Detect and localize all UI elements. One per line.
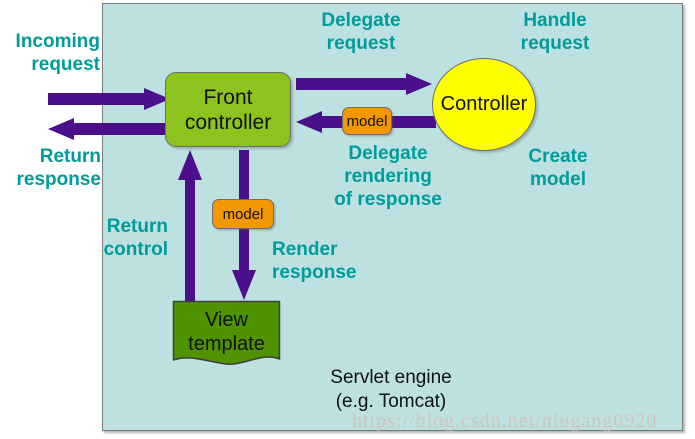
model-badge-render[interactable]: model xyxy=(212,199,274,229)
caption-handle-request: Handle request xyxy=(490,9,620,55)
caption-render-response: Render response xyxy=(272,238,356,284)
caption-create-model: Create model xyxy=(498,145,618,191)
delegate-request-arrow xyxy=(296,73,432,95)
controller-label: Controller xyxy=(441,93,528,116)
caption-incoming-request: Incoming request xyxy=(0,30,100,76)
model-badge-controller-return[interactable]: model xyxy=(342,107,392,135)
return-response-arrow xyxy=(48,118,170,140)
servlet-engine-label: Servlet engine(e.g. Tomcat) xyxy=(286,366,496,414)
model-badge-label: model xyxy=(347,113,388,130)
caption-delegate-request: Delegate request xyxy=(298,9,424,55)
incoming-request-arrow xyxy=(48,88,170,110)
return-control-arrow xyxy=(178,150,202,302)
node-front-controller[interactable]: Frontcontroller xyxy=(165,72,291,147)
diagram-canvas: Frontcontroller Controller Viewtemplate … xyxy=(0,0,695,439)
front-controller-label: Frontcontroller xyxy=(185,85,271,135)
model-badge-label: model xyxy=(223,206,264,223)
node-controller[interactable]: Controller xyxy=(432,58,536,151)
node-view-template[interactable]: Viewtemplate xyxy=(172,300,281,370)
caption-return-control: Return control xyxy=(40,215,168,261)
caption-return-response: Return response xyxy=(0,145,101,191)
caption-delegate-rendering: Delegate rendering of response xyxy=(298,142,478,211)
